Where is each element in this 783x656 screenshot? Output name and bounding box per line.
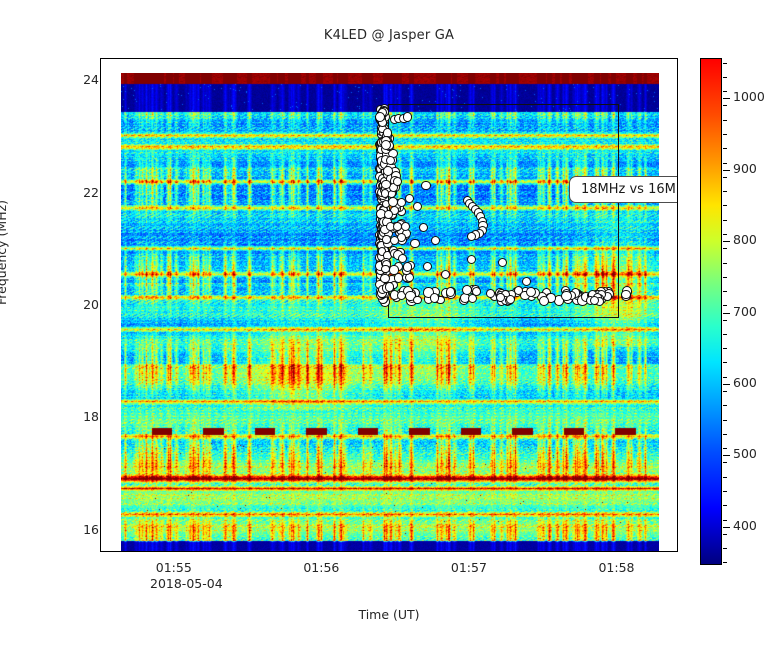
colorbar-tick-minor [723, 263, 727, 264]
x-tick-minor [212, 551, 213, 552]
y-tick-label: 20 [39, 297, 99, 312]
colorbar-tick-minor [723, 477, 727, 478]
colorbar-tick-label: 900 [733, 161, 757, 176]
colorbar-tick-minor [723, 105, 727, 106]
colorbar-tick-minor [723, 334, 727, 335]
x-tick [322, 551, 323, 552]
colorbar-tick [723, 241, 730, 242]
colorbar-tick-minor [723, 377, 727, 378]
colorbar-tick-label: 600 [733, 375, 757, 390]
x-axis-date: 2018-05-04 [150, 576, 223, 591]
x-tick [618, 551, 619, 552]
colorbar-tick-minor [723, 277, 727, 278]
x-tick-minor [581, 551, 582, 552]
colorbar-tick-label: 1000 [733, 89, 765, 104]
colorbar-tick-minor [723, 505, 727, 506]
x-tick-label: 01:56 [303, 560, 339, 575]
colorbar-tick-minor [723, 291, 727, 292]
colorbar-tick-minor [723, 434, 727, 435]
x-tick-minor [396, 551, 397, 552]
colorbar-tick-minor [723, 234, 727, 235]
y-tick-label: 18 [39, 409, 99, 424]
x-tick [175, 551, 176, 552]
annotation-label: 18MHz vs 16MHz [569, 176, 678, 203]
y-tick [100, 418, 101, 419]
colorbar-tick [723, 170, 730, 171]
colorbar-tick-minor [723, 534, 727, 535]
x-tick-minor [507, 551, 508, 552]
colorbar[interactable] [700, 58, 722, 565]
colorbar-tick [723, 384, 730, 385]
x-tick-minor [249, 551, 250, 552]
colorbar-tick-label: 800 [733, 232, 757, 247]
y-tick-minor [100, 474, 101, 475]
colorbar-tick-minor [723, 63, 727, 64]
x-tick [470, 551, 471, 552]
x-tick-label: 01:58 [598, 560, 634, 575]
colorbar-tick-minor [723, 405, 727, 406]
colorbar-tick-label: 500 [733, 446, 757, 461]
x-tick-minor [433, 551, 434, 552]
y-tick-label: 24 [39, 72, 99, 87]
y-tick-minor [100, 362, 101, 363]
colorbar-tick-minor [723, 491, 727, 492]
x-tick-minor [654, 551, 655, 552]
colorbar-tick-minor [723, 462, 727, 463]
colorbar-tick-minor [723, 348, 727, 349]
colorbar-tick-minor [723, 220, 727, 221]
colorbar-tick-minor [723, 120, 727, 121]
colorbar-tick-minor [723, 362, 727, 363]
colorbar-tick-minor [723, 77, 727, 78]
y-tick [100, 306, 101, 307]
y-tick-minor [100, 250, 101, 251]
x-tick-minor [138, 551, 139, 552]
colorbar-tick-minor [723, 548, 727, 549]
colorbar-tick-label: 400 [733, 518, 757, 533]
colorbar-tick [723, 98, 730, 99]
x-tick-label: 01:55 [156, 560, 192, 575]
colorbar-tick-minor [723, 177, 727, 178]
colorbar-tick-minor [723, 562, 727, 563]
x-tick-minor [544, 551, 545, 552]
colorbar-tick-minor [723, 248, 727, 249]
colorbar-tick-minor [723, 163, 727, 164]
y-tick-label: 16 [39, 522, 99, 537]
spectrogram-image [121, 73, 659, 552]
x-tick-minor [285, 551, 286, 552]
colorbar-tick-minor [723, 391, 727, 392]
x-tick-minor [359, 551, 360, 552]
x-axis-label: Time (UT) [100, 607, 678, 622]
colorbar-tick-label: 700 [733, 304, 757, 319]
y-tick [100, 531, 101, 532]
colorbar-tick-minor [723, 134, 727, 135]
colorbar-tick-minor [723, 305, 727, 306]
colorbar-tick-minor [723, 420, 727, 421]
colorbar-tick-minor [723, 448, 727, 449]
colorbar-tick-minor [723, 520, 727, 521]
y-tick-label: 22 [39, 185, 99, 200]
y-tick-minor [100, 138, 101, 139]
colorbar-tick-minor [723, 205, 727, 206]
colorbar-tick-minor [723, 320, 727, 321]
spectrogram-canvas [121, 73, 659, 552]
colorbar-tick-minor [723, 148, 727, 149]
plot-axes[interactable]: 18MHz vs 16MHz [100, 58, 678, 552]
y-tick [100, 194, 101, 195]
page-title: K4LED @ Jasper GA [100, 28, 678, 43]
colorbar-tick [723, 527, 730, 528]
figure-canvas: K4LED @ Jasper GA 18MHz vs 16MHz Frequen… [0, 0, 783, 656]
colorbar-tick [723, 313, 730, 314]
colorbar-tick-minor [723, 191, 727, 192]
y-axis-label: Frequency (MHz) [0, 200, 9, 305]
x-tick-label: 01:57 [451, 560, 487, 575]
colorbar-tick-minor [723, 91, 727, 92]
y-tick [100, 81, 101, 82]
colorbar-tick [723, 455, 730, 456]
